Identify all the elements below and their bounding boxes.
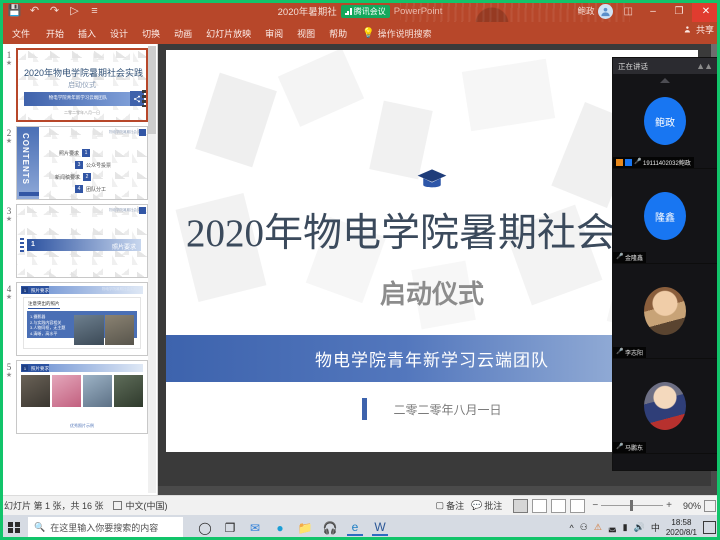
- thumb4-content: 注意突出的照片 1.摄影器 2.与实践内容相关 3.人物同框，无主题 4.清晰，…: [23, 297, 141, 349]
- zoom-control[interactable]: − + 90%: [592, 500, 716, 512]
- thumb1-subtitle: 启动仪式: [18, 80, 146, 90]
- edge-legacy-icon[interactable]: ●: [272, 520, 288, 536]
- thumb4-corner-text: 物电学院暑期社会实践: [102, 287, 137, 291]
- animation-star-icon: ★: [2, 60, 16, 67]
- slideshow-view-button[interactable]: [570, 499, 585, 513]
- thumb4-body: 1.摄影器 2.与实践内容相关 3.人物同框，无主题 4.清晰，高水平: [30, 314, 65, 336]
- comments-button[interactable]: 💬 批注: [471, 499, 502, 512]
- participant-name: 李志阳: [625, 348, 643, 357]
- account-name: 鲍政: [578, 5, 595, 17]
- slide-thumbnail-2[interactable]: CONTENTS 物电学院暑期社会实践 照片要求1 3公众号投票 新闻稿要求2: [16, 126, 148, 200]
- caret-up-icon[interactable]: [660, 78, 670, 83]
- zoom-knob[interactable]: [630, 500, 633, 511]
- slide-count-label: 幻灯片 第 1 张，共 16 张: [4, 499, 104, 512]
- file-explorer-icon[interactable]: 📁: [297, 520, 313, 536]
- mic-icon: 🎤: [616, 444, 623, 451]
- clock[interactable]: 18:58 2020/8/1: [666, 518, 697, 538]
- notes-button[interactable]: ▢ 备注: [436, 499, 465, 512]
- zoom-slider[interactable]: [601, 500, 663, 512]
- animation-star-icon: ★: [2, 216, 16, 223]
- tab-transitions[interactable]: 切换: [135, 24, 167, 43]
- normal-view-button[interactable]: [513, 499, 528, 513]
- mic-icon: 🎤: [616, 254, 623, 261]
- thumb2-corner-icon: [139, 129, 146, 136]
- status-left: 幻灯片 第 1 张，共 16 张 中文(中国): [4, 499, 168, 512]
- participant-name: 金隆鑫: [625, 253, 643, 262]
- tab-animations[interactable]: 动画: [167, 24, 199, 43]
- participant-initials-avatar: 鲍政: [644, 97, 686, 145]
- thumbnail-row-4[interactable]: 4★ 1 照片要求 注意突出的照片 1.摄影器 2.与实践内容相关 3.人物同框…: [0, 278, 157, 356]
- slide-thumbnail-4[interactable]: 1 照片要求 注意突出的照片 1.摄影器 2.与实践内容相关 3.人物同框，无主…: [16, 282, 148, 356]
- slide-thumbnail-3[interactable]: 物电学院暑期社会实践 1 照片要求: [16, 204, 148, 278]
- language-status[interactable]: 中文(中国): [113, 499, 168, 512]
- avatar[interactable]: [598, 4, 613, 19]
- slide-team-text: 物电学院青年新学习云端团队: [315, 346, 549, 371]
- participant-nameplate: 🎤 李志阳: [613, 347, 646, 358]
- tab-slideshow[interactable]: 幻灯片放映: [199, 24, 258, 43]
- screen: 💾 ↶ ↷ ▷ ≡ 2020年暑期社 腾讯会议 PowerPoint 鲍政: [0, 0, 720, 540]
- meeting-badge-label: 腾讯会议: [354, 6, 386, 17]
- share-button[interactable]: 共享: [684, 23, 714, 36]
- language-label: 中文(中国): [126, 499, 168, 512]
- thumbnail-number-3: 3★: [2, 204, 16, 223]
- thumb5-photos: [21, 375, 143, 407]
- video-icon: [625, 159, 632, 166]
- participant-nameplate: 🎤 19111402032鲍政: [613, 157, 694, 168]
- thumbnail-scroll-thumb[interactable]: [148, 46, 156, 134]
- document-title: 2020年暑期社: [278, 4, 337, 18]
- close-button[interactable]: ✕: [692, 0, 720, 22]
- thumb2-item-1: 照片要求1: [59, 149, 90, 157]
- thumbnail-number-5: 5★: [2, 360, 16, 379]
- thumb1-band: 物电学院青年新学习云端团队: [24, 92, 132, 106]
- thumb2-item-4: 4团队分工: [75, 185, 106, 193]
- thumb3-dots: [20, 238, 24, 252]
- tab-view[interactable]: 视图: [290, 24, 322, 43]
- tab-review[interactable]: 审阅: [258, 24, 290, 43]
- thumbnail-number-4: 4★: [2, 282, 16, 301]
- participant-photo-avatar: [644, 287, 686, 335]
- view-buttons: [513, 499, 585, 513]
- tell-me-label: 操作说明搜索: [378, 27, 432, 40]
- ime-chinese-icon[interactable]: 中: [651, 521, 660, 534]
- edge-icon[interactable]: e: [347, 520, 363, 536]
- thumb5-header: 1 照片要求: [21, 364, 143, 372]
- task-view-icon[interactable]: ❐: [222, 520, 238, 536]
- slide-date: 二零二零年八月一日: [393, 401, 501, 418]
- slide-sorter-view-button[interactable]: [532, 499, 547, 513]
- battery-icon[interactable]: ▮: [623, 522, 628, 533]
- system-tray: ^ ⚇ ⚠ ◛ ▮ 🔊 中 18:58 2020/8/1: [570, 518, 720, 538]
- participant-name: 19111402032鲍政: [643, 158, 691, 167]
- thumb4-photos: [74, 315, 134, 345]
- thumb2-sidebar: CONTENTS: [17, 127, 39, 199]
- search-placeholder: 在这里输入你要搜索的内容: [50, 521, 158, 534]
- slide-thumbnail-pane[interactable]: 1★ 2020年物电学院暑期社会实践 启动仪式 物电学院青年新学习云端团队 二零…: [0, 44, 158, 495]
- thumb4-panel: 1.摄影器 2.与实践内容相关 3.人物同框，无主题 4.清晰，高水平: [27, 311, 137, 338]
- mic-icon: 🎤: [616, 349, 623, 356]
- host-icon: [616, 159, 623, 166]
- participant-initials-avatar: 隆鑫: [644, 192, 686, 240]
- network-icon[interactable]: ◛: [608, 522, 617, 533]
- taskbar-icons: ◯ ❐ ✉ ● 📁 🎧 e W: [197, 520, 388, 536]
- ribbon-display-options-icon[interactable]: ◫: [617, 6, 640, 17]
- participant-photo-avatar: [644, 382, 686, 430]
- person-icon: [600, 6, 611, 17]
- animation-star-icon: ★: [2, 372, 16, 379]
- thumb5-caption: 优秀照片示例: [17, 423, 147, 429]
- zoom-level-label: 90%: [675, 501, 701, 511]
- show-hidden-icon[interactable]: ^: [570, 523, 574, 533]
- editor-horizontal-scrollbar[interactable]: [158, 486, 720, 495]
- thumb1-date: 二零二零年八月一日: [18, 110, 146, 116]
- speaking-waveform-icon: ▲▲: [696, 61, 712, 71]
- date-tick-marker: [362, 398, 367, 420]
- music-icon[interactable]: 🎧: [322, 520, 338, 536]
- thumbnail-scrollbar[interactable]: [148, 46, 156, 493]
- thumb2-item-2: 3公众号投票: [75, 161, 111, 169]
- windows-taskbar: 🔍 在这里输入你要搜索的内容 ◯ ❐ ✉ ● 📁 🎧 e W ^ ⚇ ⚠ ◛ ▮…: [0, 515, 720, 540]
- status-bar: 幻灯片 第 1 张，共 16 张 中文(中国) ▢ 备注 💬 批注: [0, 495, 720, 515]
- word-icon[interactable]: W: [372, 520, 388, 536]
- start-button[interactable]: [0, 515, 28, 540]
- thumb1-title: 2020年物电学院暑期社会实践: [24, 66, 140, 79]
- tab-insert[interactable]: 插入: [71, 24, 103, 43]
- thumbnail-row-3[interactable]: 3★ 物电学院暑期社会实践 1 照片要求: [0, 200, 157, 278]
- clock-date: 2020/8/1: [666, 528, 697, 538]
- thumbnail-number-2: 2★: [2, 126, 16, 145]
- slide-thumbnail-1[interactable]: 2020年物电学院暑期社会实践 启动仪式 物电学院青年新学习云端团队 二零二零年…: [16, 48, 148, 122]
- tencent-meeting-panel[interactable]: 正在讲话 ▲▲ 鲍政 🎤 19111402032鲍政 隆鑫 🎤 金隆鑫 🎤: [612, 57, 718, 471]
- tencent-meeting-badge: 腾讯会议: [341, 5, 390, 18]
- search-icon: 🔍: [34, 522, 45, 533]
- thumb3-corner-icon: [139, 207, 146, 214]
- volume-icon[interactable]: 🔊: [634, 522, 645, 533]
- lightbulb-icon: 💡: [362, 28, 374, 39]
- slide-thumbnail-5[interactable]: 1 照片要求 优秀照片示例: [16, 360, 148, 434]
- participant-tile-2[interactable]: 隆鑫 🎤 金隆鑫: [613, 169, 717, 264]
- participant-name: 马鹏东: [625, 443, 643, 452]
- comments-label: 批注: [484, 499, 502, 512]
- tray-icons[interactable]: ^ ⚇ ⚠ ◛ ▮ 🔊 中: [570, 521, 660, 534]
- tab-design[interactable]: 设计: [103, 24, 135, 43]
- thumbnail-row-1[interactable]: 1★ 2020年物电学院暑期社会实践 启动仪式 物电学院青年新学习云端团队 二零…: [0, 44, 157, 122]
- restore-button[interactable]: ❐: [666, 0, 692, 22]
- comment-icon: 💬: [471, 500, 482, 511]
- account-chip[interactable]: 鲍政: [578, 4, 617, 19]
- animation-star-icon: ★: [2, 294, 16, 301]
- thumbnail-number-1: 1★: [2, 48, 16, 67]
- share-person-icon: [684, 25, 693, 34]
- thumbnail-row-5[interactable]: 5★ 1 照片要求 优秀照: [0, 356, 157, 434]
- thumb4-caption: 注意突出的照片: [28, 301, 60, 309]
- notes-icon: ▢: [436, 500, 445, 511]
- thumb2-tag: [19, 192, 39, 196]
- usb-icon[interactable]: ⚇: [580, 522, 588, 533]
- share-nodes-icon: [133, 95, 141, 103]
- mail-icon[interactable]: ✉: [247, 520, 263, 536]
- tab-help[interactable]: 帮助: [322, 24, 354, 43]
- notes-label: 备注: [446, 499, 464, 512]
- signal-bars-icon: [345, 8, 352, 15]
- minimize-button[interactable]: –: [640, 0, 666, 22]
- cortana-icon[interactable]: ◯: [197, 520, 213, 536]
- tab-file[interactable]: 文件: [8, 24, 39, 43]
- thumb2-item-3: 新闻稿要求2: [55, 173, 91, 181]
- ribbon-tabs: 文件 开始 插入 设计 切换 动画 幻灯片放映 审阅 视图 帮助 💡 操作说明搜…: [0, 22, 720, 44]
- status-right: ▢ 备注 💬 批注 −: [436, 499, 716, 513]
- tell-me-search[interactable]: 💡 操作说明搜索: [362, 27, 431, 40]
- title-bar: 💾 ↶ ↷ ▷ ≡ 2020年暑期社 腾讯会议 PowerPoint 鲍政: [0, 0, 720, 22]
- animation-star-icon: ★: [2, 138, 16, 145]
- tab-home[interactable]: 开始: [39, 24, 71, 43]
- mic-icon: 🎤: [634, 159, 641, 166]
- action-center-icon[interactable]: [703, 521, 716, 534]
- shield-icon[interactable]: ⚠: [594, 522, 602, 533]
- participant-nameplate: 🎤 金隆鑫: [613, 252, 646, 263]
- reading-view-button[interactable]: [551, 499, 566, 513]
- participant-tile-1[interactable]: 鲍政 🎤 19111402032鲍政: [613, 74, 717, 169]
- app-name: PowerPoint: [394, 6, 443, 17]
- spellcheck-icon: [113, 501, 122, 510]
- windows-start-icon: [8, 522, 20, 534]
- participant-tile-5[interactable]: 赵端 🔇 赵端: [613, 454, 717, 471]
- clock-time: 18:58: [666, 518, 697, 528]
- speaking-status-label: 正在讲话: [618, 61, 648, 72]
- fit-to-window-icon[interactable]: [704, 500, 716, 512]
- search-input[interactable]: 🔍 在这里输入你要搜索的内容: [28, 517, 183, 538]
- share-label: 共享: [696, 23, 714, 36]
- participant-tile-4[interactable]: 🎤 马鹏东: [613, 359, 717, 454]
- window-controls: 鲍政 ◫ – ❐ ✕: [578, 0, 720, 22]
- meeting-panel-header: 正在讲话 ▲▲: [613, 58, 717, 74]
- zoom-out-button[interactable]: −: [592, 500, 598, 511]
- thumbnail-row-2[interactable]: 2★ CONTENTS 物电学院暑期社会实践 照片要求1 3公众号投票: [0, 122, 157, 200]
- participant-nameplate: 🎤 马鹏东: [613, 442, 646, 453]
- thumb1-dots: [142, 90, 146, 107]
- zoom-in-button[interactable]: +: [666, 500, 672, 511]
- thumb3-band: 1 照片要求: [27, 239, 141, 251]
- participant-tile-3[interactable]: 🎤 李志阳: [613, 264, 717, 359]
